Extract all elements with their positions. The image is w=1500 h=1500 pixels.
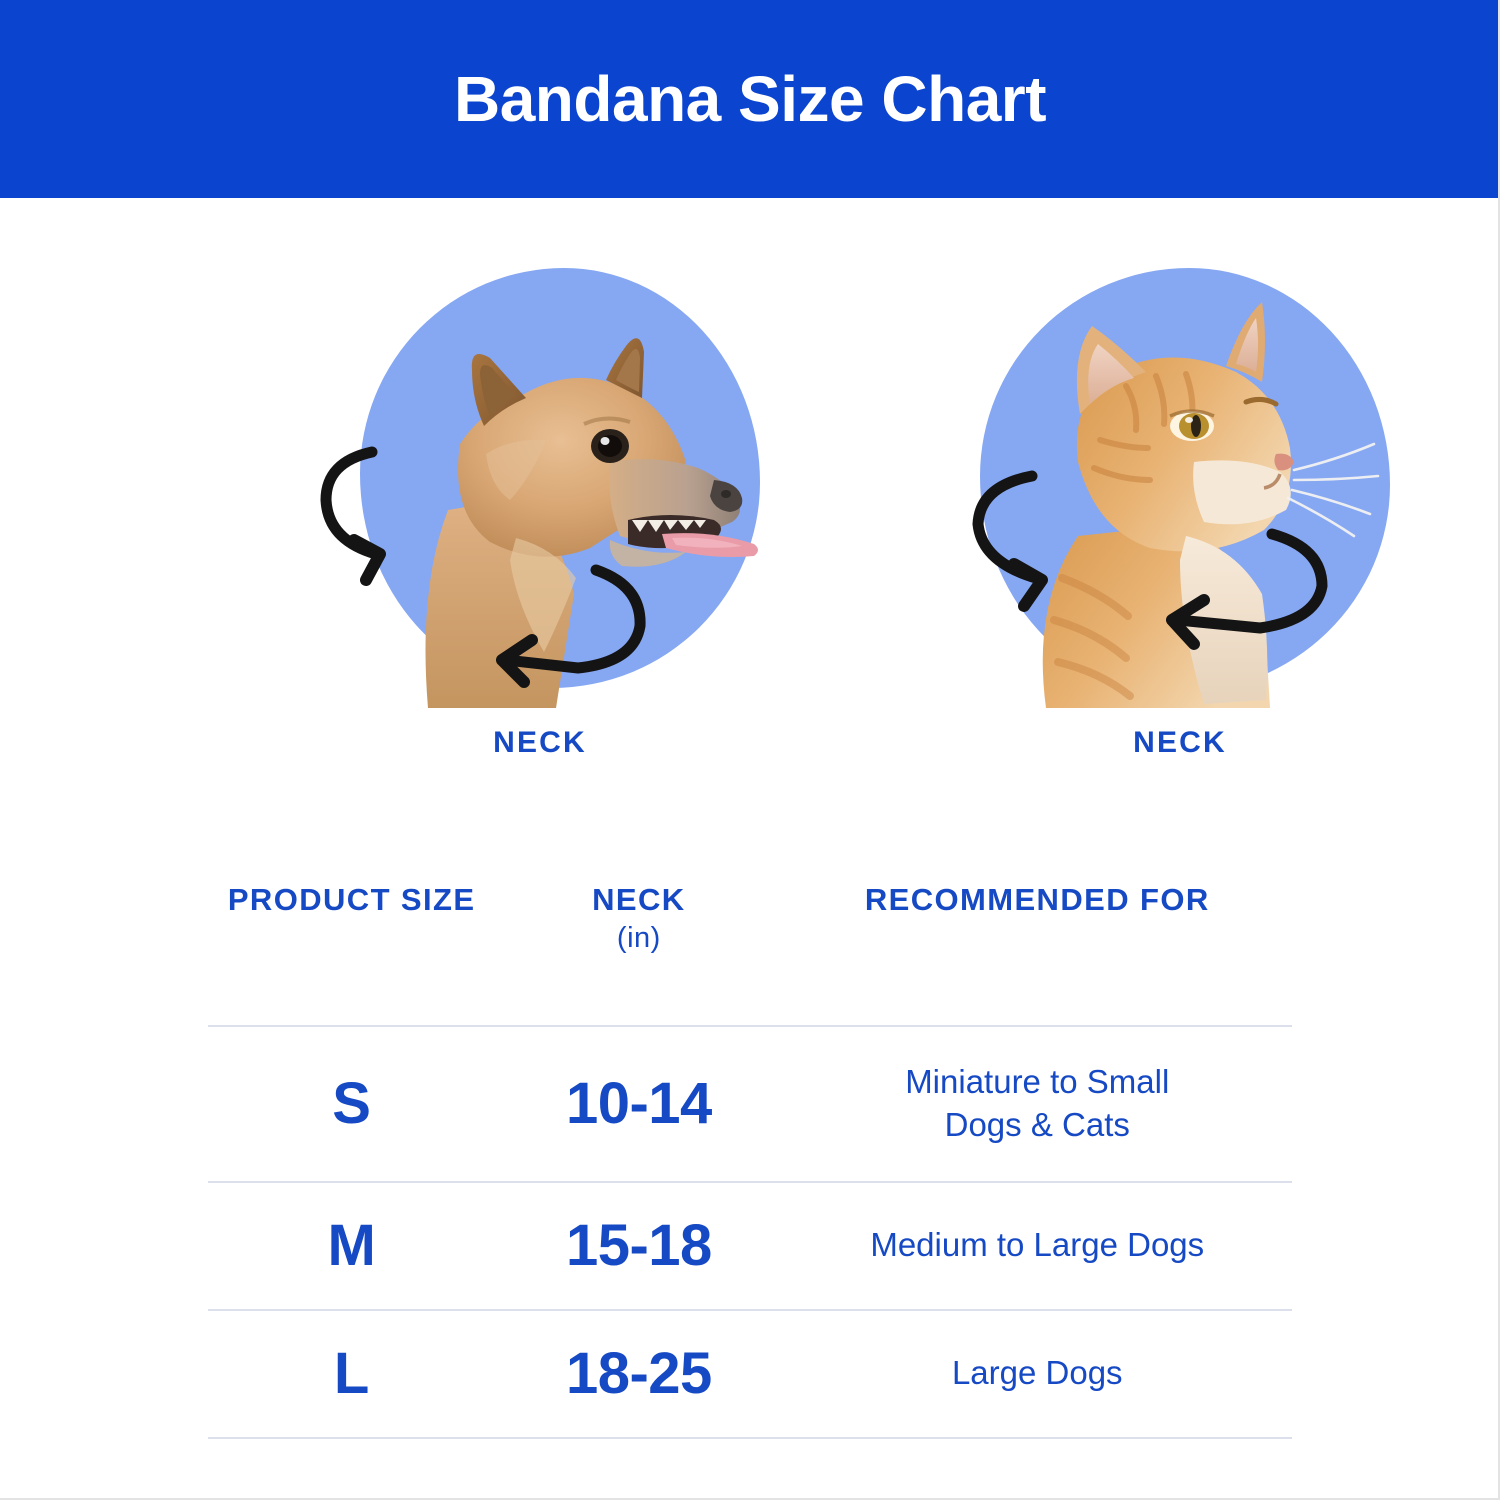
cell-neck-l: 18-25 — [495, 1310, 782, 1438]
size-table: PRODUCT SIZE NECK (in) RECOMMENDED FOR S… — [208, 880, 1292, 1439]
table-row: M 15-18 Medium to Large Dogs — [208, 1182, 1292, 1310]
cell-neck-s: 10-14 — [495, 1026, 782, 1182]
table-header-row: PRODUCT SIZE NECK (in) RECOMMENDED FOR — [208, 880, 1292, 1026]
cell-recommended-m: Medium to Large Dogs — [783, 1182, 1293, 1310]
cat-neck-label: NECK — [950, 726, 1410, 760]
cell-size-l: L — [208, 1310, 495, 1438]
cell-recommended-l-line1: Large Dogs — [783, 1352, 1293, 1395]
column-header-product-size: PRODUCT SIZE — [208, 880, 495, 1026]
size-chart-page: Bandana Size Chart — [0, 0, 1500, 1500]
column-header-neck-unit: (in) — [495, 920, 782, 957]
cat-neck-arrow-left — [978, 476, 1042, 606]
illustration-row: NECK — [0, 198, 1500, 798]
page-title: Bandana Size Chart — [454, 67, 1046, 131]
cell-recommended-m-line1: Medium to Large Dogs — [783, 1224, 1293, 1267]
cell-recommended-s-line1: Miniature to Small — [783, 1061, 1293, 1104]
table-header: PRODUCT SIZE NECK (in) RECOMMENDED FOR — [208, 880, 1292, 1026]
cell-recommended-l: Large Dogs — [783, 1310, 1293, 1438]
cell-recommended-s-line2: Dogs & Cats — [783, 1104, 1293, 1147]
column-header-recommended-for: RECOMMENDED FOR — [783, 880, 1293, 1026]
table-row: S 10-14 Miniature to Small Dogs & Cats — [208, 1026, 1292, 1182]
dog-body-group — [426, 338, 759, 708]
dog-photo — [310, 248, 770, 708]
table-body: S 10-14 Miniature to Small Dogs & Cats M… — [208, 1026, 1292, 1438]
size-table-wrapper: PRODUCT SIZE NECK (in) RECOMMENDED FOR S… — [208, 880, 1292, 1439]
dog-neck-label: NECK — [310, 726, 770, 760]
column-header-neck: NECK (in) — [495, 880, 782, 1026]
cat-illustration-block: NECK — [920, 248, 1440, 808]
cat-photo — [950, 248, 1410, 708]
dog-illustration-block: NECK — [280, 248, 800, 808]
table-row: L 18-25 Large Dogs — [208, 1310, 1292, 1438]
cell-neck-m: 15-18 — [495, 1182, 782, 1310]
cell-size-m: M — [208, 1182, 495, 1310]
page-header-banner: Bandana Size Chart — [0, 0, 1500, 198]
dog-illustration — [310, 248, 770, 708]
cell-recommended-s: Miniature to Small Dogs & Cats — [783, 1026, 1293, 1182]
column-header-neck-text: NECK — [592, 882, 685, 917]
cat-illustration — [950, 248, 1410, 708]
cell-size-s: S — [208, 1026, 495, 1182]
cat-body-group — [1043, 302, 1378, 708]
dog-neck-arrow-left — [326, 452, 380, 580]
